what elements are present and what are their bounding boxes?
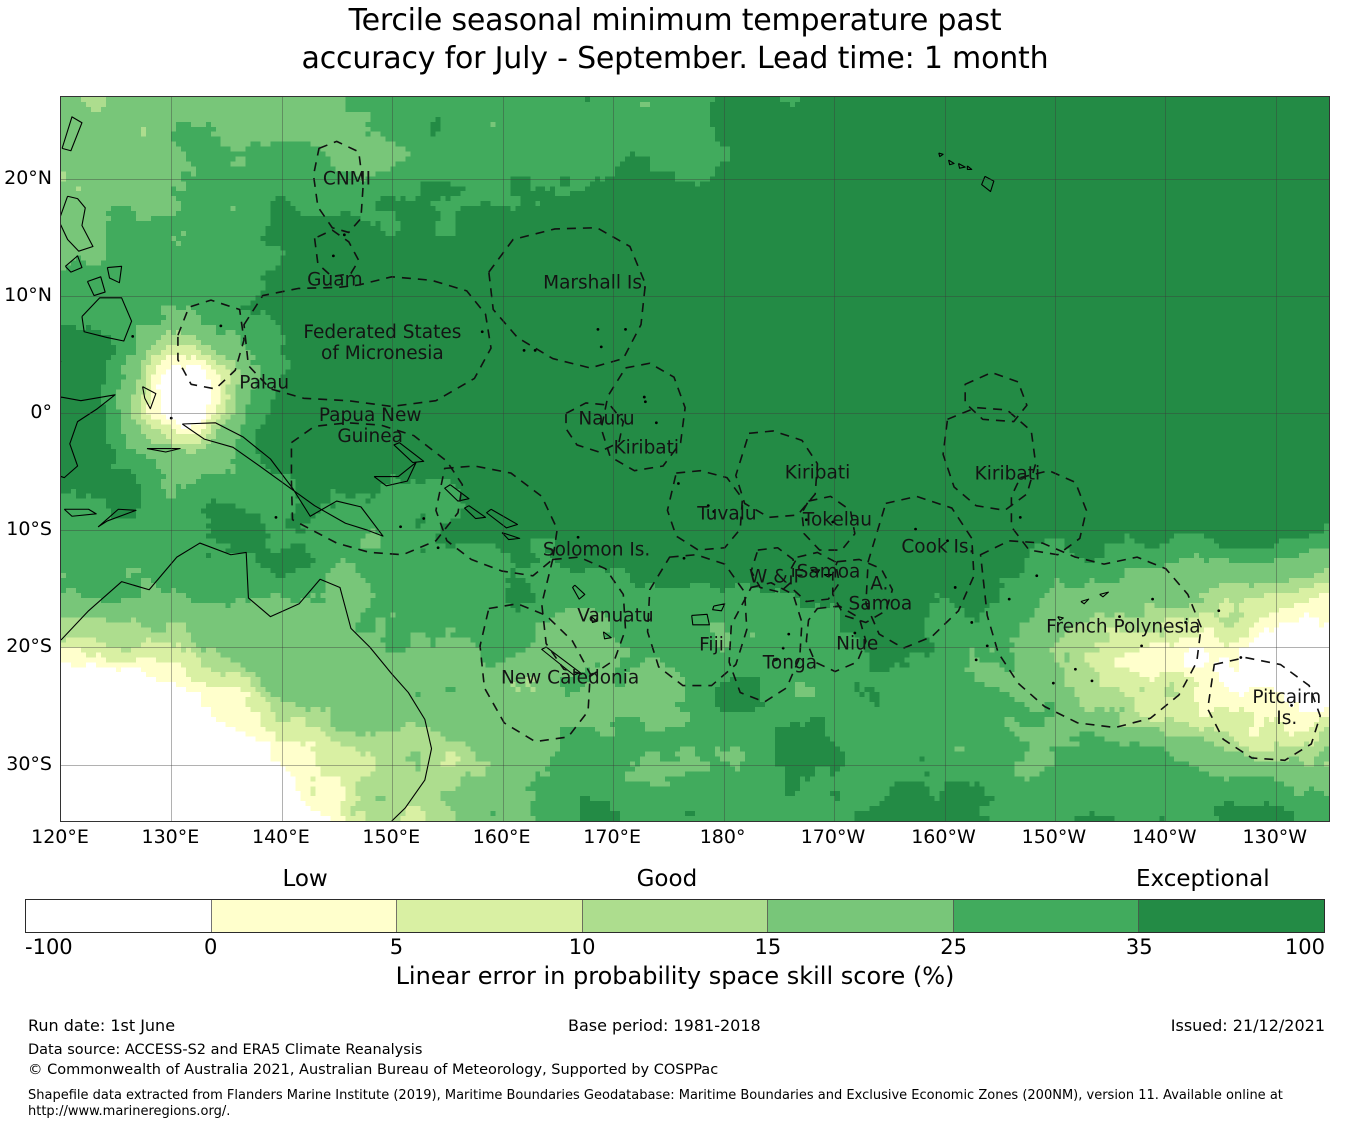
map-overlays (61, 97, 1329, 821)
gridline-longitude (945, 97, 946, 821)
colorbar-qualitative-labels: LowGoodExceptional (0, 866, 1350, 896)
colorbar-segment (397, 900, 583, 932)
coastline-layer (61, 117, 1293, 821)
colorbar[interactable] (25, 899, 1325, 933)
gridline-longitude (282, 97, 283, 821)
y-tick-label: 0° (30, 401, 52, 423)
colorbar-tick-label: 10 (569, 935, 596, 959)
x-tick-label: 160°E (473, 826, 531, 848)
x-tick-label: 180° (700, 826, 746, 848)
colorbar-segment (768, 900, 954, 932)
colorbar-quality-label: Good (637, 866, 698, 892)
x-tick-label: 170°E (583, 826, 641, 848)
shapefile-attribution-line-1: Shapefile data extracted from Flanders M… (28, 1088, 1283, 1103)
gridline-longitude (1276, 97, 1277, 821)
colorbar-caption: Linear error in probability space skill … (0, 962, 1350, 990)
colorbar-tick-label: 35 (1126, 935, 1153, 959)
y-tick-label: 20°S (6, 635, 52, 657)
eez-boundary-layer (178, 141, 1320, 760)
gridline-longitude (613, 97, 614, 821)
gridline-longitude (724, 97, 725, 821)
gridline-longitude (171, 97, 172, 821)
title-line-2: accuracy for July - September. Lead time… (0, 40, 1350, 78)
gridline-latitude (61, 647, 1329, 648)
gridline-latitude (61, 413, 1329, 414)
issued-date-text: Issued: 21/12/2021 (1171, 1016, 1325, 1035)
title-line-1: Tercile seasonal minimum temperature pas… (0, 2, 1350, 40)
gridline-longitude (392, 97, 393, 821)
x-tick-label: 130°W (1243, 826, 1308, 848)
colorbar-tick-label: 0 (204, 935, 217, 959)
colorbar-tick-label: 15 (755, 935, 782, 959)
colorbar-quality-label: Exceptional (1136, 866, 1270, 892)
gridline-longitude (834, 97, 835, 821)
run-date-text: Run date: 1st June (28, 1016, 175, 1035)
copyright-text: © Commonwealth of Australia 2021, Austra… (28, 1062, 718, 1078)
colorbar-segment (26, 900, 212, 932)
gridline-longitude (1055, 97, 1056, 821)
colorbar-tick-label: 100 (1285, 935, 1325, 959)
colorbar-tick-labels: -1000510152535100 (0, 935, 1350, 961)
x-tick-label: 150°W (1022, 826, 1087, 848)
x-tick-label: 120°E (31, 826, 89, 848)
x-tick-label: 140°W (1132, 826, 1197, 848)
x-tick-label: 130°E (142, 826, 200, 848)
y-tick-label: 10°S (6, 518, 52, 540)
colorbar-quality-label: Low (282, 866, 327, 892)
colorbar-tick-label: -100 (25, 935, 73, 959)
map-figure: CNMIGuamMarshall Is.Federated States of … (60, 96, 1330, 822)
x-tick-label: 150°E (362, 826, 420, 848)
colorbar-segment (212, 900, 398, 932)
colorbar-segment (1139, 900, 1324, 932)
y-tick-label: 10°N (4, 284, 52, 306)
x-tick-label: 170°W (801, 826, 866, 848)
data-source-text: Data source: ACCESS-S2 and ERA5 Climate … (28, 1042, 422, 1058)
colorbar-tick-label: 25 (940, 935, 967, 959)
gridline-longitude (503, 97, 504, 821)
gridline-longitude (1165, 97, 1166, 821)
shapefile-attribution-line-2: http://www.marineregions.org/. (28, 1104, 230, 1119)
page-title: Tercile seasonal minimum temperature pas… (0, 2, 1350, 78)
base-period-text: Base period: 1981-2018 (568, 1016, 761, 1035)
gridline-latitude (61, 179, 1329, 180)
gridline-latitude (61, 530, 1329, 531)
gridline-latitude (61, 296, 1329, 297)
y-tick-label: 30°S (6, 753, 52, 775)
colorbar-tick-label: 5 (390, 935, 403, 959)
colorbar-segment (954, 900, 1140, 932)
gridline-latitude (61, 765, 1329, 766)
footer-primary-row: Run date: 1st June Base period: 1981-201… (0, 1016, 1350, 1038)
x-tick-label: 140°E (252, 826, 310, 848)
colorbar-segment (583, 900, 769, 932)
y-tick-label: 20°N (4, 167, 52, 189)
x-tick-label: 160°W (911, 826, 976, 848)
map-plot-area[interactable]: CNMIGuamMarshall Is.Federated States of … (60, 96, 1330, 822)
